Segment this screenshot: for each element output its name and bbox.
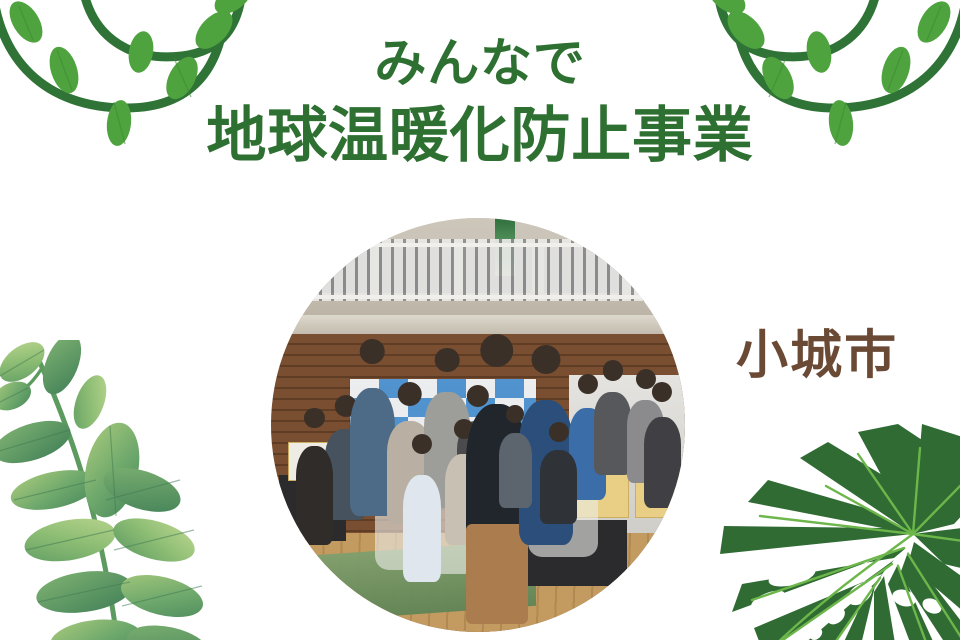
monstera-leaf-decoration [708,424,960,640]
railing-bar [271,243,685,247]
person-figure [296,446,333,545]
watercolor-branch-decoration [0,340,232,640]
poster-canvas: みんなで 地球温暖化防止事業 小城市 [0,0,960,640]
title-line-2: 地球温暖化防止事業 [0,101,960,172]
child-figure [403,475,440,583]
railing-bar [271,295,685,299]
title-line-1: みんなで [0,34,960,95]
balcony-ledge [271,315,685,334]
city-name-label: 小城市 [736,330,898,382]
person-trousers [466,524,528,623]
person-figure [594,392,631,475]
person-figure [499,433,532,508]
event-photo-scene [271,218,685,632]
balcony-railing [271,239,685,301]
page-title: みんなで 地球温暖化防止事業 [0,34,960,172]
event-photo [271,218,685,632]
person-figure [540,450,577,525]
person-figure [644,417,681,508]
